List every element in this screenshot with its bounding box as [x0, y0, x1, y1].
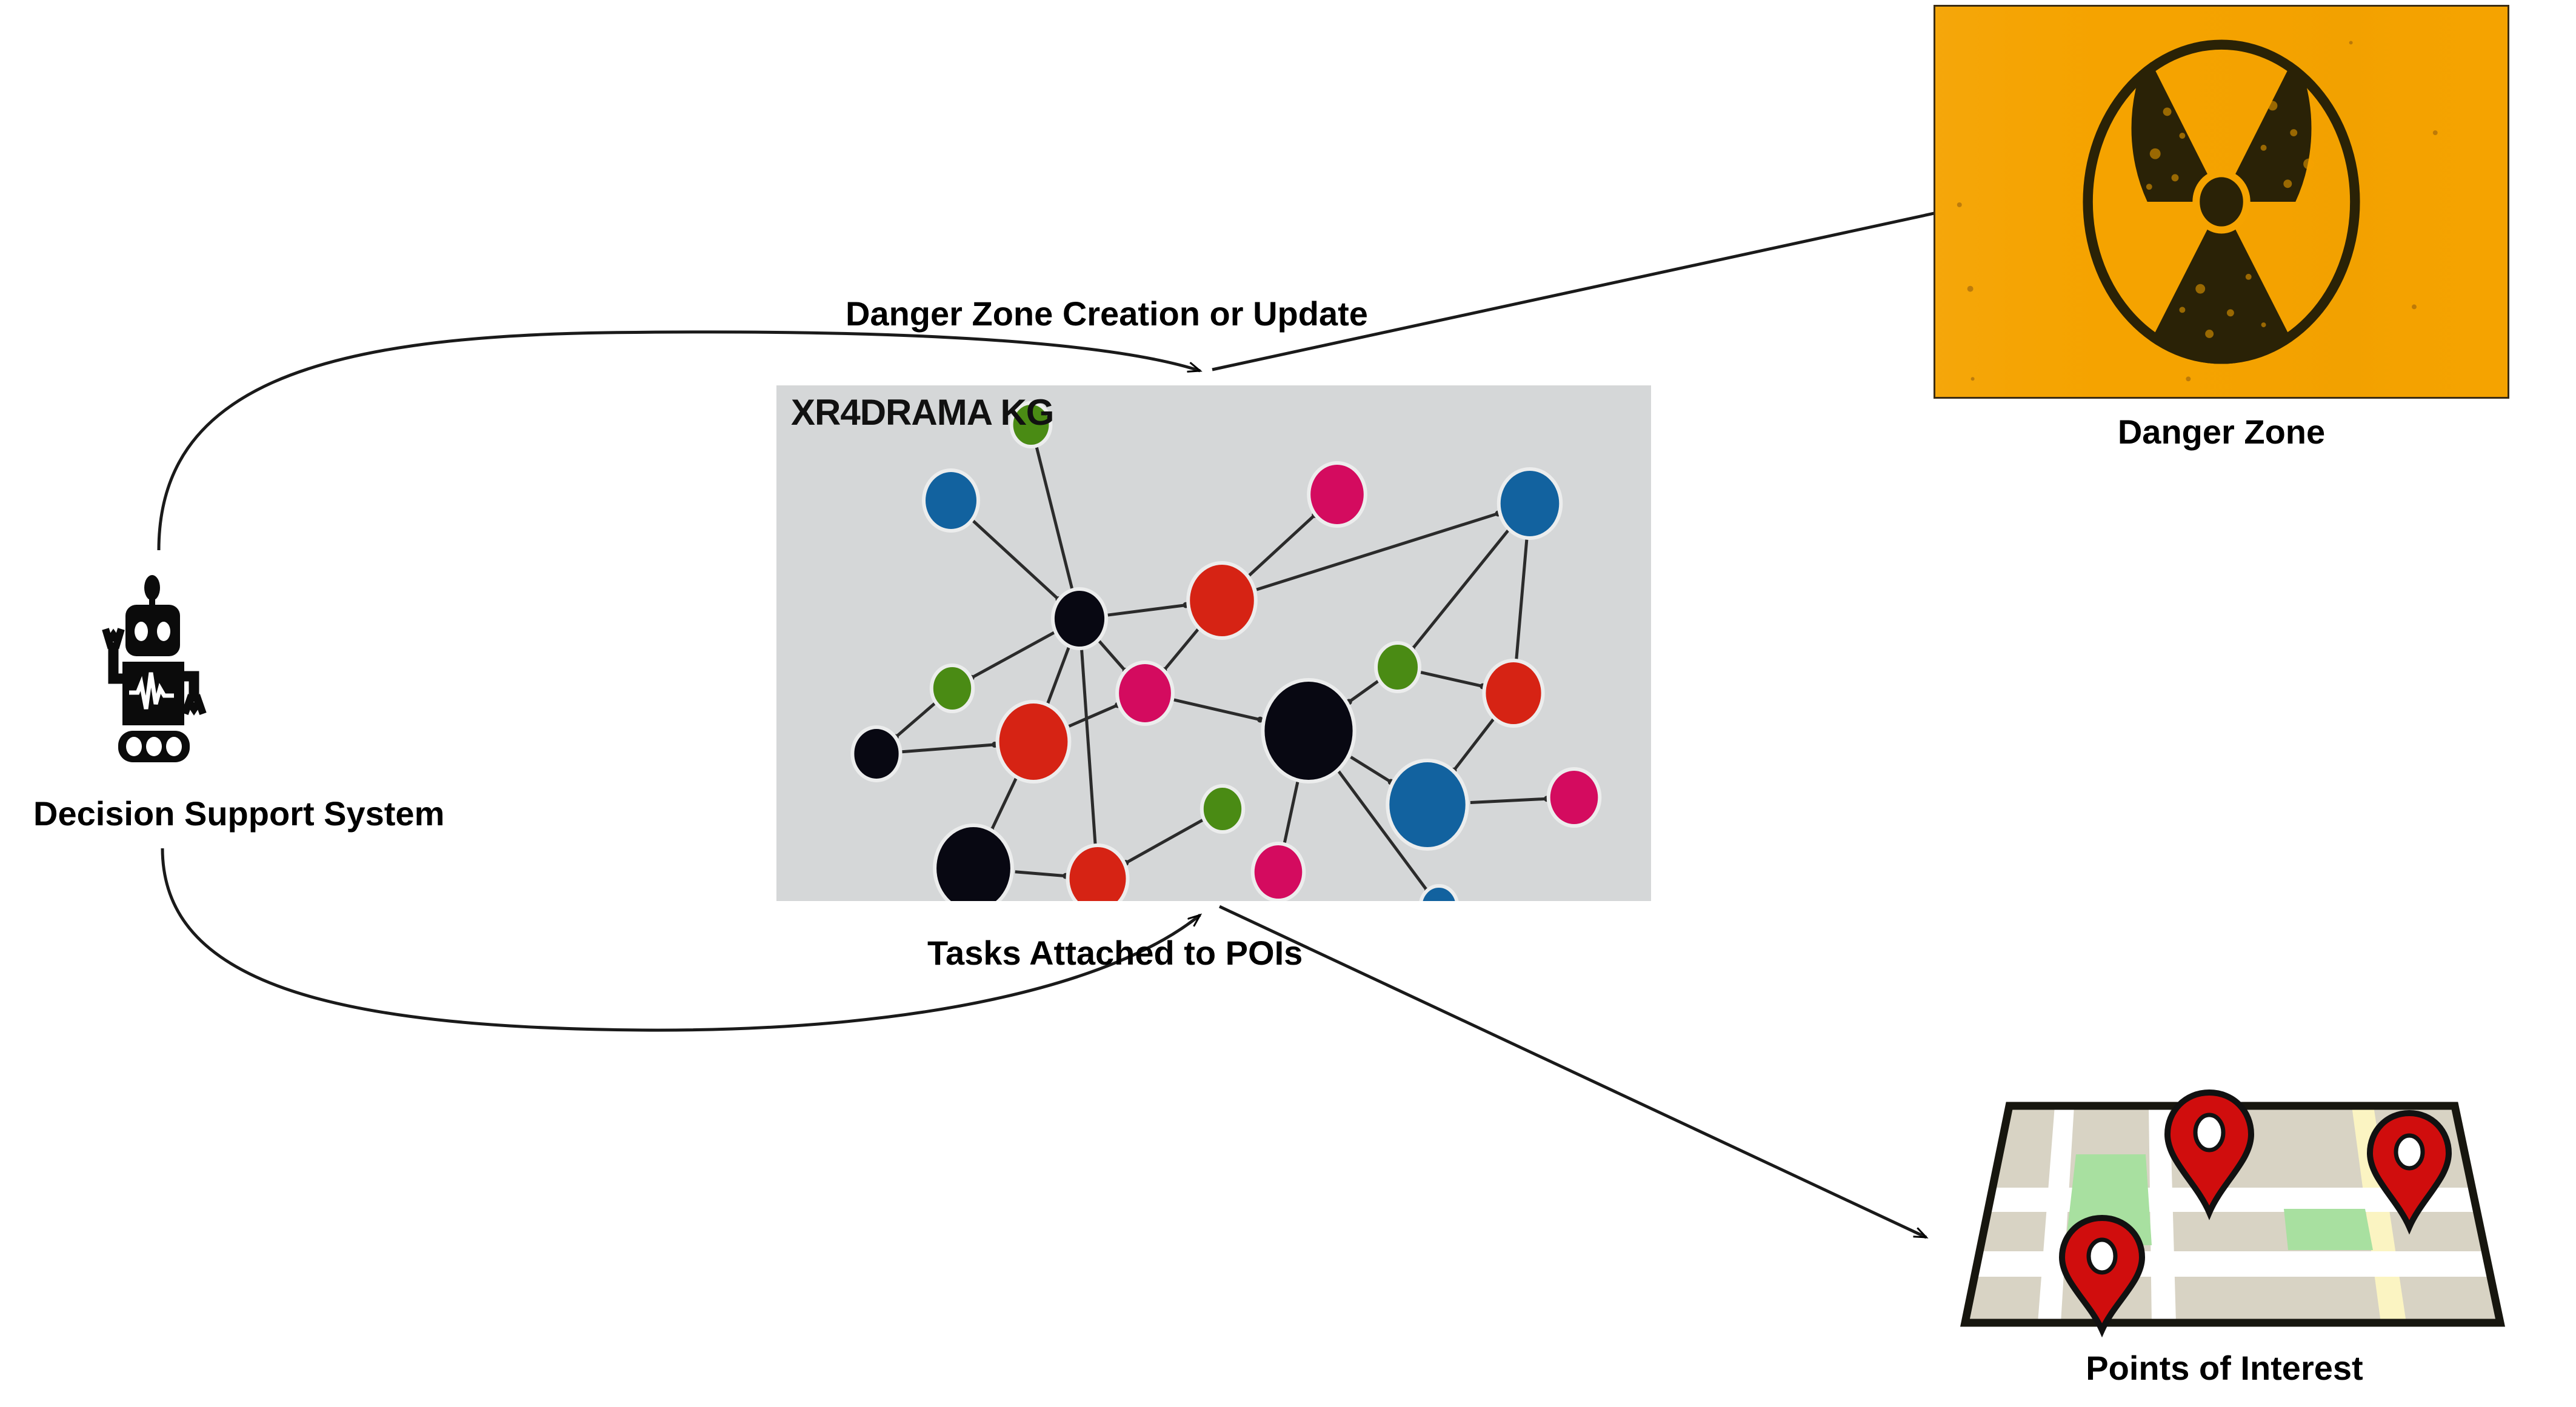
- kg-edge: [1081, 647, 1095, 847]
- kg-node-red[interactable]: [1068, 845, 1128, 901]
- kg-node-green[interactable]: [1376, 643, 1420, 691]
- decision-support-system[interactable]: Decision Support System: [33, 564, 355, 833]
- kg-node-black[interactable]: [1053, 589, 1106, 648]
- connector-label-tasks-attached-pois: Tasks Attached to POIs: [927, 933, 1303, 973]
- kg-node-blue[interactable]: [1387, 760, 1467, 849]
- diagram-canvas: Danger Zone Creation or Update Tasks Att…: [0, 0, 2576, 1407]
- danger-zone-block[interactable]: Danger Zone: [1934, 5, 2509, 451]
- kg-edge: [972, 633, 1055, 678]
- kg-edge: [972, 520, 1058, 599]
- kg-edge: [1015, 872, 1066, 876]
- kg-node-pink[interactable]: [1309, 463, 1366, 526]
- kg-node-group: [852, 403, 1600, 901]
- radiation-hazard-icon: [1934, 5, 2509, 399]
- connector-path-kg-to-pois: [1220, 906, 1926, 1237]
- kg-node-green[interactable]: [932, 665, 973, 711]
- map-pins-icon: [1934, 1088, 2515, 1342]
- kg-node-pink[interactable]: [1253, 843, 1304, 900]
- kg-edge: [1098, 640, 1126, 671]
- kg-node-black[interactable]: [852, 727, 900, 780]
- points-of-interest-label: Points of Interest: [1934, 1348, 2515, 1388]
- connector-path-kg-to-danger-zone: [1212, 204, 1979, 370]
- kg-node-pink[interactable]: [1549, 769, 1600, 826]
- kg-graph: [776, 385, 1651, 901]
- kg-edge: [1047, 645, 1069, 705]
- kg-edge: [1351, 757, 1391, 782]
- kg-node-red[interactable]: [1188, 563, 1256, 638]
- kg-edge: [992, 777, 1017, 831]
- robot-icon: [100, 564, 288, 788]
- kg-node-red[interactable]: [1484, 660, 1543, 726]
- xr4drama-kg-panel[interactable]: XR4DRAMA KG: [776, 385, 1651, 901]
- kg-edge: [1249, 515, 1315, 576]
- kg-edge: [1069, 705, 1118, 727]
- connector-label-danger-zone-update: Danger Zone Creation or Update: [846, 294, 1368, 333]
- kg-edge: [1108, 605, 1186, 615]
- kg-node-green[interactable]: [1202, 786, 1243, 832]
- kg-node-pink[interactable]: [1117, 662, 1173, 724]
- kg-edge: [896, 703, 936, 737]
- kg-edge: [1516, 537, 1527, 662]
- kg-edge: [1036, 445, 1072, 591]
- kg-edge: [1349, 680, 1379, 702]
- decision-support-system-label: Decision Support System: [33, 794, 355, 833]
- kg-edge: [1126, 820, 1203, 863]
- kg-node-black[interactable]: [1263, 680, 1354, 782]
- kg-edge: [1412, 530, 1509, 650]
- kg-title-label: XR4DRAMA KG: [791, 391, 1053, 433]
- kg-edge: [1470, 799, 1547, 802]
- kg-edge: [1164, 628, 1198, 670]
- kg-node-blue[interactable]: [924, 470, 978, 531]
- points-of-interest-block[interactable]: Points of Interest: [1934, 1088, 2515, 1388]
- kg-edge: [1174, 700, 1260, 720]
- kg-node-black[interactable]: [935, 825, 1012, 901]
- kg-edge: [902, 745, 995, 752]
- kg-node-blue[interactable]: [1499, 469, 1561, 538]
- kg-node-red[interactable]: [998, 702, 1070, 782]
- kg-edge: [1284, 779, 1298, 845]
- kg-edge: [1453, 718, 1494, 771]
- kg-edge: [1420, 672, 1483, 686]
- danger-zone-label: Danger Zone: [1934, 412, 2509, 451]
- kg-edge: [1256, 514, 1498, 590]
